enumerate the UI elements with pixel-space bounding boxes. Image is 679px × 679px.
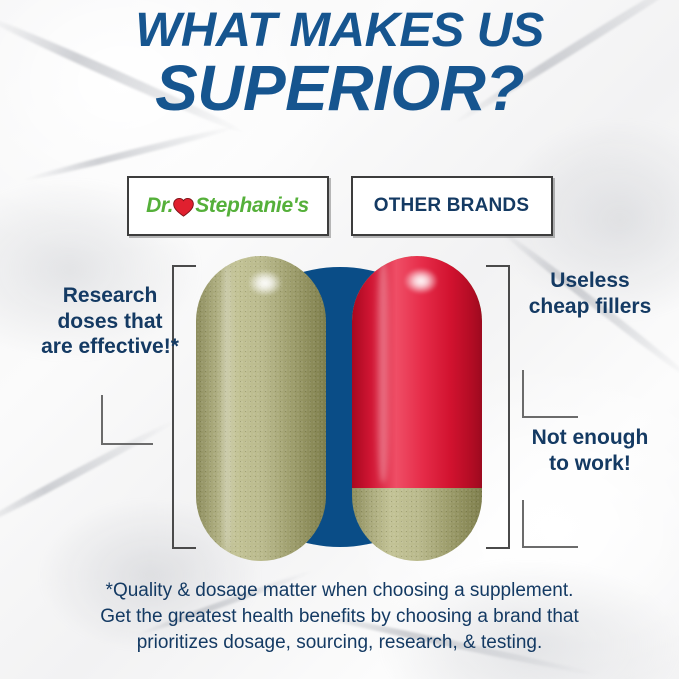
footnote-line-1: *Quality & dosage matter when choosing a… xyxy=(46,578,633,604)
brand-label-box: Dr. Stephanie's xyxy=(127,176,329,236)
heart-icon xyxy=(173,197,194,217)
capsule-half-filled xyxy=(352,256,482,561)
headline-line-2: SUPERIOR? xyxy=(0,58,679,119)
capsule-highlight xyxy=(248,270,282,296)
red-capsule-shell xyxy=(352,256,482,488)
bracket-right xyxy=(486,265,510,549)
other-brands-label-box: OTHER BRANDS xyxy=(351,176,553,236)
page-title: WHAT MAKES US SUPERIOR? xyxy=(0,8,679,118)
infographic-root: WHAT MAKES US SUPERIOR? Dr. Stephanie's … xyxy=(0,0,679,679)
capsule-sheen xyxy=(375,261,391,484)
powder-grain-texture xyxy=(196,256,326,561)
footnote-line-3: prioritizes dosage, sourcing, research, … xyxy=(46,630,633,656)
capsule-highlight xyxy=(404,268,438,294)
annotation-right-bottom: Not enough to work! xyxy=(520,425,660,476)
footnote: *Quality & dosage matter when choosing a… xyxy=(46,578,633,657)
annotation-left: Research doses that are effective!* xyxy=(40,283,180,360)
annotation-right-top: Useless cheap fillers xyxy=(520,268,660,319)
elbow-connector-left xyxy=(101,395,153,445)
footnote-line-2: Get the greatest health benefits by choo… xyxy=(46,604,633,630)
other-brands-label: OTHER BRANDS xyxy=(374,195,529,217)
headline-line-1: WHAT MAKES US xyxy=(0,8,679,54)
brand-logo-name: Stephanie's xyxy=(195,194,309,218)
comparison-label-row: Dr. Stephanie's OTHER BRANDS xyxy=(0,176,679,236)
elbow-connector-right-bottom xyxy=(522,500,578,548)
brand-logo: Dr. Stephanie's xyxy=(146,194,309,218)
capsule-full-powder xyxy=(196,256,326,561)
brand-logo-prefix: Dr. xyxy=(146,194,173,218)
elbow-connector-right-top xyxy=(522,370,578,418)
